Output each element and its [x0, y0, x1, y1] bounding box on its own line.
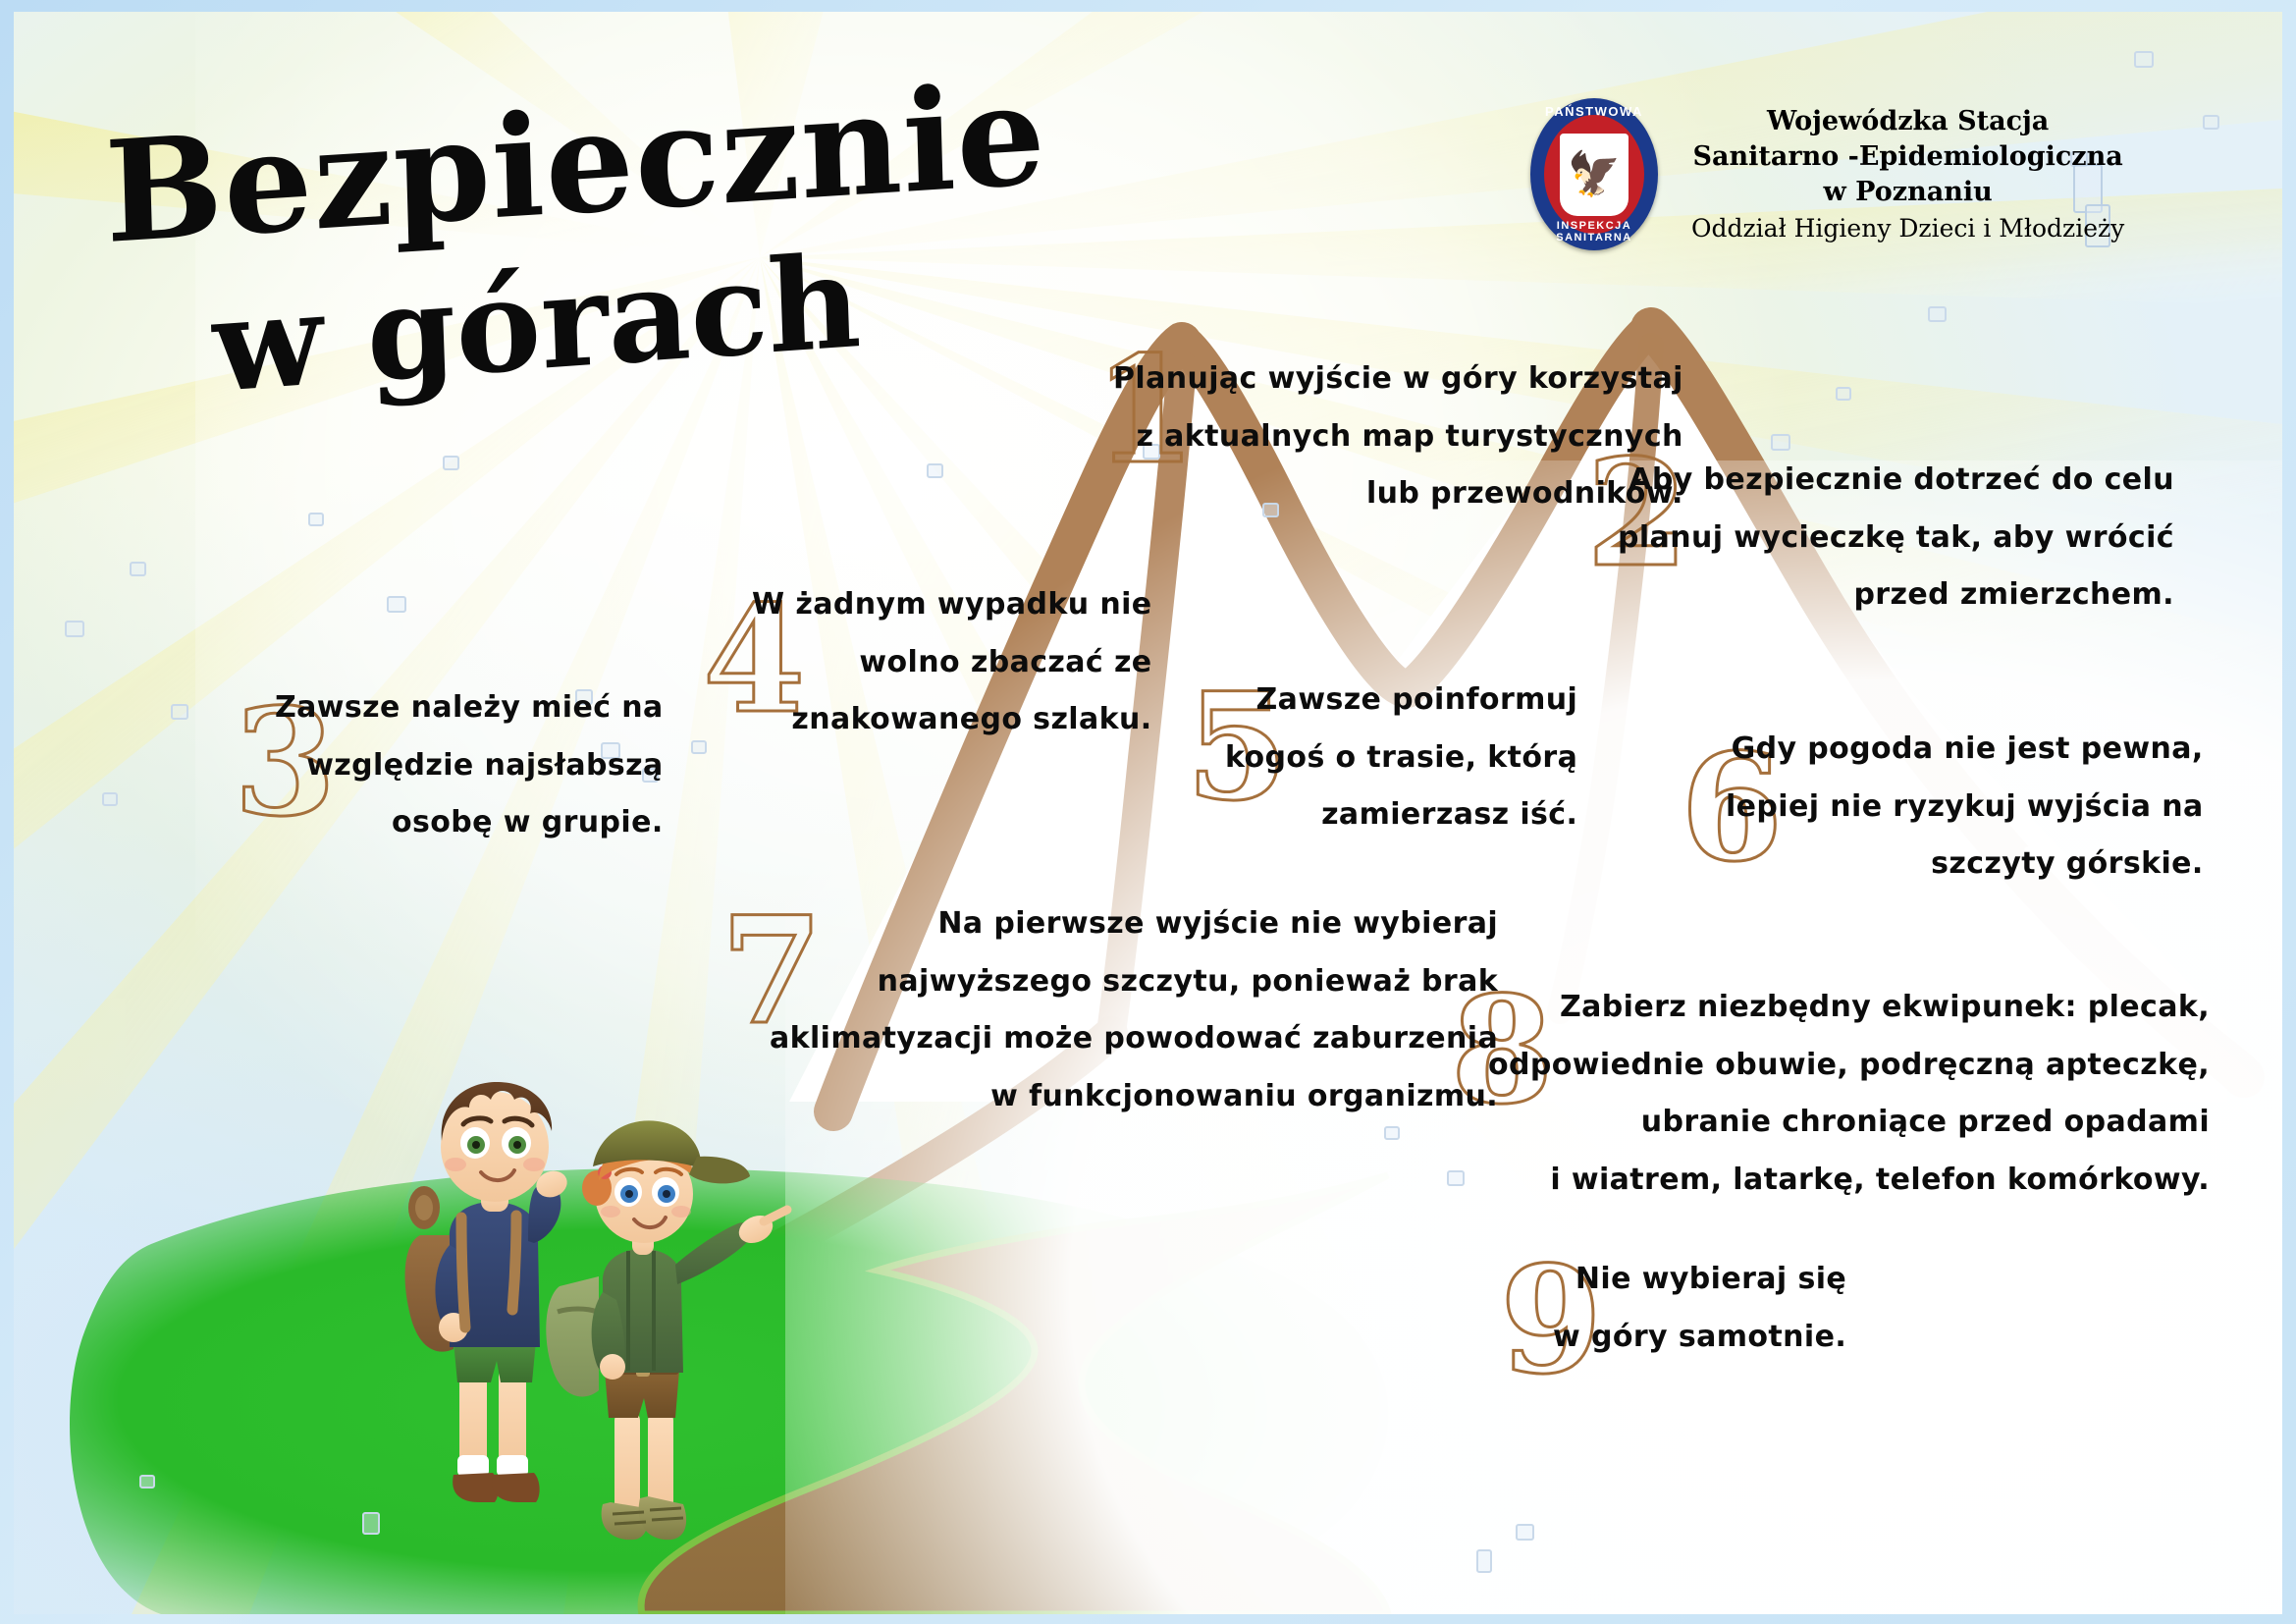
tip-item-5: 5 Zawsze poinformuj kogoś o trasie, któr… [1184, 672, 1577, 844]
tip-text-7: Na pierwsze wyjście nie wybieraj najwyżs… [719, 895, 1498, 1125]
bubble-decoration [1836, 387, 1851, 401]
tip-line: znakowanego szlaku. [752, 691, 1152, 749]
girl-hiker-figure [546, 1120, 787, 1540]
tip-line: kogoś o trasie, którą [1225, 730, 1577, 787]
tip-text-3: Zawsze należy mieć na względzie najsłabs… [232, 679, 664, 852]
tip-line: Zabierz niezbędny ekwipunek: plecak, [1488, 979, 2210, 1037]
bubble-decoration [927, 463, 943, 478]
tip-line: wolno zbaczać ze [752, 634, 1152, 692]
bubble-decoration [443, 456, 459, 470]
eagle-emblem-icon: 🦅 [1560, 134, 1629, 216]
tip-line: w funkcjonowaniu organizmu. [770, 1068, 1498, 1126]
tip-line: najwyższego szczytu, ponieważ brak [770, 953, 1498, 1011]
tip-line: aklimatyzacji może powodować zaburzenia [770, 1010, 1498, 1068]
tip-line: odpowiednie obuwie, podręczną apteczkę, [1488, 1037, 2210, 1095]
bubble-decoration [130, 562, 146, 576]
tip-line: Zawsze poinformuj [1225, 672, 1577, 730]
tip-line: i wiatrem, latarkę, telefon komórkowy. [1488, 1152, 2210, 1210]
tip-line: Planując wyjście w góry korzystaj [1113, 351, 1683, 408]
tip-item-7: 7 Na pierwsze wyjście nie wybieraj najwy… [719, 895, 1498, 1125]
tip-text-8: Zabierz niezbędny ekwipunek: plecak, odp… [1449, 979, 2210, 1209]
tip-text-2: Aby bezpiecznie dotrzeć do celu planuj w… [1584, 452, 2174, 624]
bubble-decoration [1384, 1126, 1400, 1140]
bubble-decoration [1476, 1549, 1492, 1573]
tip-line: planuj wycieczkę tak, aby wrócić [1618, 510, 2174, 568]
tip-text-4: W żadnym wypadku nie wolno zbaczać ze zn… [701, 576, 1152, 749]
bubble-decoration [1771, 434, 1790, 451]
bubble-decoration [1516, 1524, 1534, 1541]
bubble-decoration [1928, 306, 1947, 322]
bubble-decoration [387, 596, 406, 613]
tip-text-6: Gdy pogoda nie jest pewna, lepiej nie ry… [1679, 721, 2204, 893]
bubble-decoration [65, 621, 84, 637]
page-title: Bezpiecznie w górach [107, 130, 1049, 405]
bubble-decoration [2134, 51, 2154, 68]
tip-line: Aby bezpiecznie dotrzeć do celu [1618, 452, 2174, 510]
tip-item-9: 9 Nie wybieraj się w góry samotnie. [1498, 1251, 1846, 1366]
org-line-4: Oddział Higieny Dzieci i Młodzieży [1691, 210, 2124, 247]
tip-line: ubranie chroniące przed opadami [1488, 1094, 2210, 1152]
bubble-decoration [171, 704, 188, 720]
tip-line: w góry samotnie. [1553, 1309, 1846, 1367]
logo-bottom-label: INSPEKCJA SANITARNA [1530, 220, 1658, 244]
org-line-2: Sanitarno -Epidemiologiczna [1691, 139, 2124, 175]
org-line-3: w Poznaniu [1691, 175, 2124, 210]
hiker-children-illustration [385, 1070, 817, 1581]
tip-line: Gdy pogoda nie jest pewna, [1726, 721, 2204, 779]
tip-text-9: Nie wybieraj się w góry samotnie. [1498, 1251, 1846, 1366]
tip-line: W żadnym wypadku nie [752, 576, 1152, 634]
bubble-decoration [362, 1512, 380, 1535]
organization-block: PAŃSTWOWA 🦅 INSPEKCJA SANITARNA Wojewódz… [1530, 98, 2124, 250]
sanitary-inspection-logo-icon: PAŃSTWOWA 🦅 INSPEKCJA SANITARNA [1530, 98, 1658, 250]
tip-line: Zawsze należy mieć na [275, 679, 664, 737]
tip-line: Nie wybieraj się [1553, 1251, 1846, 1309]
tip-item-6: 6 Gdy pogoda nie jest pewna, lepiej nie … [1679, 721, 2204, 893]
poster-slide: Bezpiecznie w górach PAŃSTWOWA 🦅 INSPEKC… [14, 12, 2282, 1614]
tip-line: osobę w grupie. [275, 794, 664, 852]
tip-line: Na pierwsze wyjście nie wybieraj [770, 895, 1498, 953]
bubble-decoration [102, 792, 118, 806]
organization-name: Wojewódzka Stacja Sanitarno -Epidemiolog… [1691, 98, 2124, 246]
bubble-decoration [139, 1475, 155, 1489]
bubble-decoration [308, 513, 324, 526]
tip-line: zamierzasz iść. [1225, 786, 1577, 844]
tip-line: przed zmierzchem. [1618, 567, 2174, 624]
tip-line: lepiej nie ryzykuj wyjścia na [1726, 779, 2204, 837]
tip-item-8: 8 Zabierz niezbędny ekwipunek: plecak, o… [1449, 979, 2210, 1209]
tip-line: względzie najsłabszą [275, 737, 664, 795]
tip-item-4: 4 W żadnym wypadku nie wolno zbaczać ze … [701, 576, 1152, 749]
bubble-decoration [2203, 115, 2219, 130]
tip-line: szczyty górskie. [1726, 836, 2204, 893]
tip-text-5: Zawsze poinformuj kogoś o trasie, którą … [1184, 672, 1577, 844]
poster: Bezpiecznie w górach PAŃSTWOWA 🦅 INSPEKC… [0, 0, 2296, 1624]
boy-hiker-figure [405, 1082, 571, 1502]
tip-item-2: 2 Aby bezpiecznie dotrzeć do celu planuj… [1584, 452, 2174, 624]
org-line-1: Wojewódzka Stacja [1691, 104, 2124, 139]
tip-item-3: 3 Zawsze należy mieć na względzie najsła… [232, 679, 664, 852]
